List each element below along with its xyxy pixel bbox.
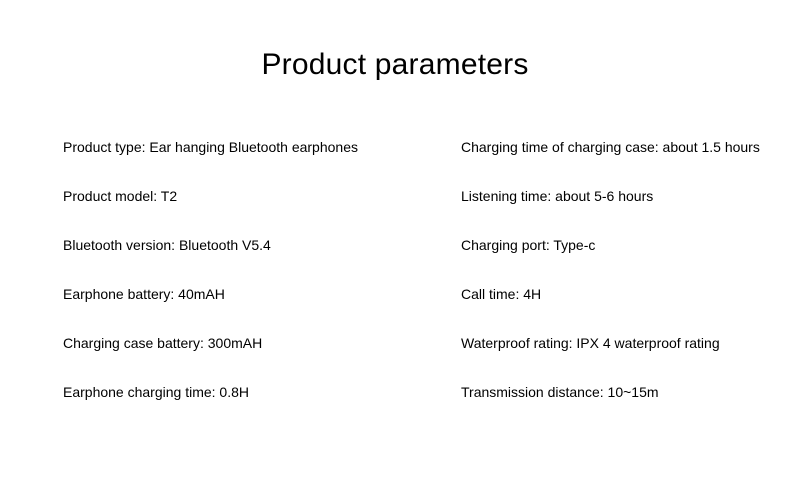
table-row: Product model: T2 Listening time: about … bbox=[0, 186, 790, 235]
spec-transmission-distance: Transmission distance: 10~15m bbox=[461, 382, 659, 402]
spec-call-time: Call time: 4H bbox=[461, 284, 541, 304]
table-row: Product type: Ear hanging Bluetooth earp… bbox=[0, 137, 790, 186]
spec-product-model: Product model: T2 bbox=[63, 186, 177, 206]
spec-charging-port: Charging port: Type-c bbox=[461, 235, 595, 255]
product-parameters-page: Product parameters Product type: Ear han… bbox=[0, 0, 790, 483]
spec-waterproof-rating: Waterproof rating: IPX 4 waterproof rati… bbox=[461, 333, 720, 353]
spec-charging-time-of-charging-case: Charging time of charging case: about 1.… bbox=[461, 137, 760, 157]
table-row: Earphone charging time: 0.8H Transmissio… bbox=[0, 382, 790, 431]
spec-earphone-battery: Earphone battery: 40mAH bbox=[63, 284, 225, 304]
spec-earphone-charging-time: Earphone charging time: 0.8H bbox=[63, 382, 249, 402]
spec-bluetooth-version: Bluetooth version: Bluetooth V5.4 bbox=[63, 235, 271, 255]
spec-product-type: Product type: Ear hanging Bluetooth earp… bbox=[63, 137, 358, 157]
table-row: Charging case battery: 300mAH Waterproof… bbox=[0, 333, 790, 382]
table-row: Bluetooth version: Bluetooth V5.4 Chargi… bbox=[0, 235, 790, 284]
spec-charging-case-battery: Charging case battery: 300mAH bbox=[63, 333, 262, 353]
table-row: Earphone battery: 40mAH Call time: 4H bbox=[0, 284, 790, 333]
page-title: Product parameters bbox=[0, 47, 790, 83]
spec-table: Product type: Ear hanging Bluetooth earp… bbox=[0, 137, 790, 431]
spec-listening-time: Listening time: about 5-6 hours bbox=[461, 186, 653, 206]
